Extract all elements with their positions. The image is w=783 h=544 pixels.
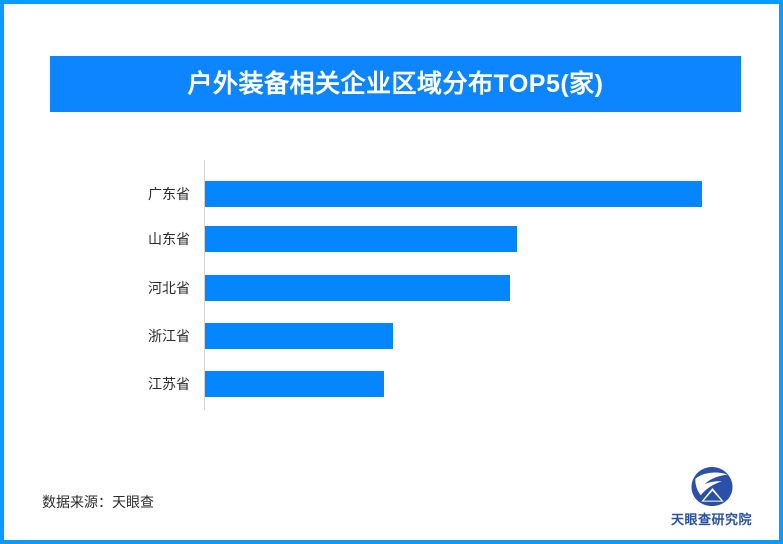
bar-row[interactable]: 河北省 xyxy=(50,275,741,301)
bar-track xyxy=(205,226,517,252)
bar-fill-zhejiang[interactable] xyxy=(205,323,393,349)
brand-wordmark: 天眼查研究院 xyxy=(671,509,752,528)
bar-row[interactable]: 江苏省 xyxy=(50,371,741,397)
chart-title-banner: 户外装备相关企业区域分布TOP5(家) xyxy=(50,56,741,112)
bar-track xyxy=(205,275,510,301)
bar-fill-jiangsu[interactable] xyxy=(205,371,384,397)
bar-category-label: 广东省 xyxy=(50,181,190,207)
page-title: 户外装备相关企业区域分布TOP5(家) xyxy=(188,72,604,97)
bar-row[interactable]: 广东省 xyxy=(50,181,741,207)
chart-card-frame: 户外装备相关企业区域分布TOP5(家) 广东省 山东省 河北省 浙江省 xyxy=(0,0,783,544)
bar-track xyxy=(205,371,384,397)
bar-category-label: 江苏省 xyxy=(50,371,190,397)
bar-category-label: 河北省 xyxy=(50,275,190,301)
bar-track xyxy=(205,181,702,207)
tianyancha-eagle-icon xyxy=(689,466,735,507)
bar-row[interactable]: 浙江省 xyxy=(50,323,741,349)
bar-fill-guangdong[interactable] xyxy=(205,181,702,207)
brand-logo: 天眼查研究院 xyxy=(659,466,764,528)
bar-fill-hebei[interactable] xyxy=(205,275,510,301)
bar-track xyxy=(205,323,393,349)
bar-category-label: 山东省 xyxy=(50,226,190,252)
bar-category-label: 浙江省 xyxy=(50,323,190,349)
bar-fill-shandong[interactable] xyxy=(205,226,517,252)
bar-chart: 广东省 山东省 河北省 浙江省 江苏省 xyxy=(50,154,741,414)
data-source-note: 数据来源：天眼查 xyxy=(42,492,154,512)
bar-row[interactable]: 山东省 xyxy=(50,226,741,252)
